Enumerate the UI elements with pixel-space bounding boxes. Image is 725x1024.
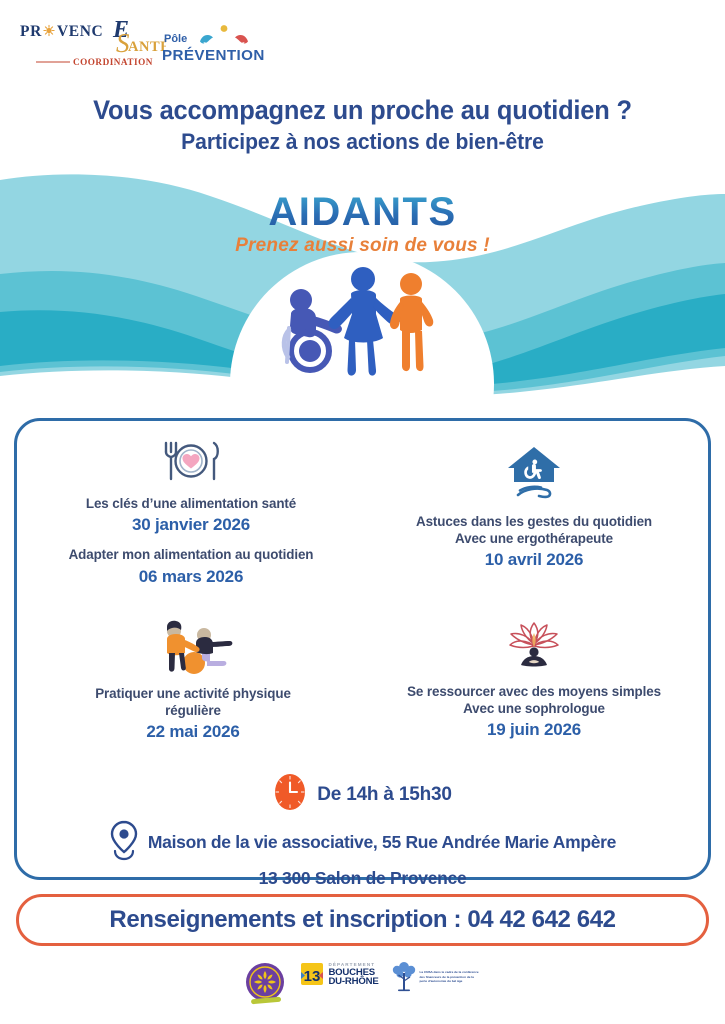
event-location-block: Maison de la vie associative, 55 Rue And… (17, 819, 708, 890)
svg-text:PRÉVENTION: PRÉVENTION (162, 47, 265, 64)
event-time-text: De 14h à 15h30 (317, 784, 452, 806)
du-rhone-label: DU-RHÔNE (328, 977, 378, 987)
events-panel: Les clés d’une alimentation santé 30 jan… (14, 418, 711, 880)
svg-text:COORDINATION: COORDINATION (73, 57, 153, 67)
event-subtitle: Avec une sophrologue (369, 700, 699, 717)
header-logo-bar: PR VENC E S ANTÉ COORDINATION PROVE (0, 0, 725, 82)
svg-text:VENC: VENC (57, 23, 103, 40)
poster-root: PR VENC E S ANTÉ COORDINATION PROVE (0, 0, 725, 1024)
pole-logo-text: Pôle (276, 20, 277, 21)
event-date: 19 juin 2026 (369, 719, 699, 740)
contact-text: Renseignements et inscription : 04 42 64… (109, 906, 615, 934)
event-title: Se ressourcer avec des moyens simples (369, 683, 699, 700)
event-card-relaxation: Se ressourcer avec des moyens simples Av… (369, 617, 699, 741)
event-subtitle: régulière (35, 702, 351, 719)
event-title: Astuces dans les gestes du quotidien (369, 513, 699, 530)
headline-line-1: Vous accompagnez un proche au quotidien … (15, 96, 711, 126)
event-title: Les clés d’une alimentation santé (31, 495, 351, 512)
event-location-line-2: 13 300 Salon de Provence (17, 868, 708, 890)
sante-logo-text: SANTÉ (166, 10, 167, 11)
plate-fork-knife-heart-icon (31, 437, 351, 490)
provence-sante-coordination-logo: PR VENC E S ANTÉ COORDINATION PROVE (16, 10, 166, 68)
hero-figures-illustration (0, 258, 725, 383)
provence-logo-text: PROVENCE (166, 10, 167, 11)
event-card-daily-gestures: Astuces dans les gestes du quotidien Ave… (369, 443, 699, 571)
cnsa-tree-logo: La CNSA dans le cadre de la conférence d… (391, 960, 482, 994)
headline-line-2: Participez à nos actions de bien-être (15, 129, 711, 155)
event-date: 10 avril 2026 (369, 549, 699, 570)
home-accessibility-hand-icon (369, 443, 699, 508)
event-title: Adapter mon alimentation au quotidien (31, 546, 351, 563)
pole-prevention-logo: Pôle PRÉVENTION Pôle PRÉVENTION (158, 20, 276, 68)
event-time-row: De 14h à 15h30 (17, 773, 708, 816)
event-date: 30 janvier 2026 (31, 514, 351, 535)
svg-text:13: 13 (304, 968, 321, 985)
headline-block: Vous accompagnez un proche au quotidien … (0, 96, 725, 155)
event-card-nutrition: Les clés d’une alimentation santé 30 jan… (31, 437, 351, 587)
event-location-line-1: Maison de la vie associative, 55 Rue And… (148, 832, 616, 854)
wheelchair-user-figure (283, 289, 341, 370)
contact-banner[interactable]: Renseignements et inscription : 04 42 64… (16, 894, 709, 946)
coordination-logo-text: COORDINATION (166, 10, 167, 11)
event-title: Pratiquer une activité physique (35, 685, 351, 702)
lotus-meditation-icon (369, 617, 699, 678)
event-card-physical-activity: Pratiquer une activité physique régulièr… (35, 617, 351, 743)
event-date: 22 mai 2026 (35, 721, 351, 742)
map-pin-icon (109, 819, 139, 867)
svg-text:PR: PR (20, 23, 42, 40)
prevention-logo-text: PRÉVENTION (276, 20, 277, 21)
caregiver-figure (328, 267, 400, 376)
cnsa-caption: La CNSA dans le cadre de la conférence d… (420, 970, 482, 984)
assisted-person-figure (389, 273, 432, 371)
footer-logo-bar: 13 DÉPARTEMENT BOUCHES DU-RHÔNE La CNSA … (0, 960, 725, 1016)
clock-icon (273, 773, 307, 816)
departement-bouches-du-rhone-logo: 13 DÉPARTEMENT BOUCHES DU-RHÔNE (299, 960, 378, 990)
svg-text:Pôle: Pôle (164, 33, 187, 45)
purple-circle-partner-logo (243, 960, 287, 1013)
physical-activity-ball-icon (35, 617, 351, 680)
event-date: 06 mars 2026 (31, 566, 351, 587)
event-subtitle: Avec une ergothérapeute (369, 530, 699, 547)
